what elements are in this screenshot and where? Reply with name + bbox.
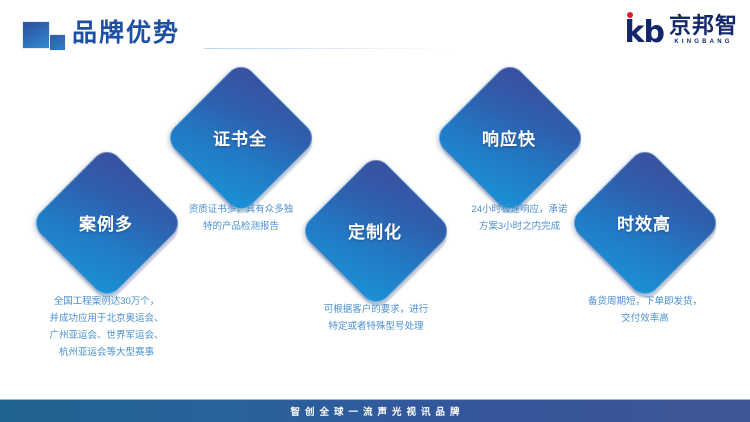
page-title: 品牌优势 — [72, 15, 180, 51]
feature-title-5: 时效高 — [590, 168, 698, 276]
caption-line: 特的产品检测报告 — [156, 218, 326, 235]
logo-red-dot-icon — [627, 12, 633, 18]
footer-slogan: 智创全球一流声光视讯品牌 — [285, 404, 464, 418]
caption-line: 备货周期短，下单即发货， — [559, 293, 731, 310]
feature-caption-5: 备货周期短，下单即发货， 交付效率高 — [559, 293, 731, 327]
caption-line: 杭州亚运会等大型赛事 — [14, 344, 199, 361]
feature-title-4: 响应快 — [455, 83, 563, 191]
feature-diamond-2[interactable]: 证书全 — [186, 83, 294, 191]
caption-line: 交付效率高 — [559, 310, 731, 327]
feature-diamond-5[interactable]: 时效高 — [590, 168, 698, 276]
feature-title-1: 案例多 — [52, 168, 160, 276]
feature-caption-3: 可根据客户的要求，进行 特定或者特殊型号处理 — [290, 301, 462, 335]
header-square-large-icon — [22, 21, 50, 49]
feature-caption-2: 资质证书多，具有众多独 特的产品检测报告 — [156, 201, 326, 235]
logo-mark-text: kb — [625, 18, 664, 48]
header-divider — [204, 48, 454, 49]
feature-caption-1: 全国工程案例达30万个， 并成功应用于北京奥运会、 广州亚运会、世界军运会、 杭… — [14, 293, 199, 361]
feature-diamond-3[interactable]: 定制化 — [321, 176, 429, 284]
caption-line: 特定或者特殊型号处理 — [290, 318, 462, 335]
caption-line: 广州亚运会、世界军运会、 — [14, 327, 199, 344]
caption-line: 全国工程案例达30万个， — [14, 293, 199, 310]
caption-line: 可根据客户的要求，进行 — [290, 301, 462, 318]
brand-logo: kb 京邦智 KINGBANG — [625, 14, 738, 48]
header-square-small-icon — [49, 34, 66, 51]
feature-title-2: 证书全 — [186, 83, 294, 191]
feature-diamond-1[interactable]: 案例多 — [52, 168, 160, 276]
logo-english-name: KINGBANG — [669, 38, 738, 47]
slide-canvas: 品牌优势 kb 京邦智 KINGBANG 案例多 全国工程案例达30万个， 并成… — [0, 0, 750, 422]
caption-line: 资质证书多，具有众多独 — [156, 201, 326, 218]
logo-name-block: 京邦智 KINGBANG — [669, 15, 738, 47]
caption-line: 并成功应用于北京奥运会、 — [14, 310, 199, 327]
feature-diamond-4[interactable]: 响应快 — [455, 83, 563, 191]
feature-title-3: 定制化 — [321, 176, 429, 284]
logo-chinese-name: 京邦智 — [669, 15, 738, 37]
slide-footer: 智创全球一流声光视讯品牌 — [0, 399, 750, 422]
